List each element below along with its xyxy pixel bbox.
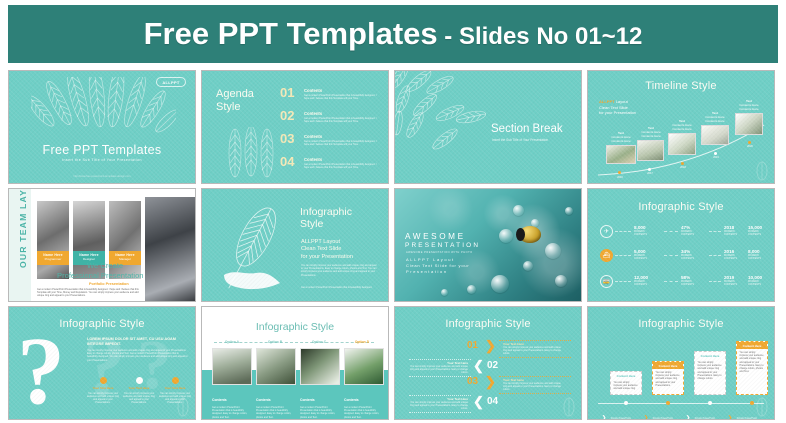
- slide6-kicker1: ALLPPT Layout: [301, 239, 353, 246]
- slide-thumbnail-2-agenda[interactable]: Agenda Style 01 Contents: [201, 70, 389, 184]
- agenda-body: Get a modern PowerPoint Presentation tha…: [304, 163, 382, 169]
- option-label: Option C: [301, 340, 337, 344]
- slide4-kicker-line1: Layout: [616, 99, 628, 104]
- card-header: Content Here: [653, 362, 683, 369]
- slide1-subtitle: Insert the Sub Title of Your Presentatio…: [9, 158, 195, 162]
- card-header: Content Here: [737, 342, 767, 349]
- slide7-title-line2: PRESENTATION: [405, 242, 480, 249]
- slide7-kicker2: Clean Text Slide for your: [406, 263, 470, 268]
- slide-thumbnail-7-awesome-presentation[interactable]: AWESOME PRESENTATION AWESOME PRESENTATIO…: [394, 188, 582, 302]
- option-caption: Contents Get a modern PowerPoint Present…: [300, 388, 340, 419]
- slide8-title: Infographic Style: [588, 201, 774, 213]
- chevron-right-icon: ❯: [644, 415, 648, 420]
- leaf-watermark-icon: [175, 397, 191, 417]
- chevron-right-icon: ❯: [485, 339, 496, 352]
- question-mark-icon: ?: [17, 333, 87, 413]
- slide7-subtitle: AWESOME PRESENTATION WITH PHOTO: [406, 251, 473, 254]
- team-headline1: We Create: [87, 261, 123, 270]
- agenda-number: 01: [280, 85, 294, 100]
- card-legend: ❯ Simple PowerPoint Simple PowerPoint: [602, 406, 638, 420]
- stat-cell: 8,000 MODERN CONTENTS: [748, 249, 775, 260]
- allppt-logo-text: ALLPPT: [162, 80, 179, 85]
- allppt-logo-badge: ALLPPT: [156, 77, 186, 87]
- timeline-year: 2016: [613, 176, 627, 179]
- slide12-title: Infographic Style: [588, 318, 774, 330]
- team-body: Get a modern PowerPoint Presentation tha…: [37, 288, 141, 298]
- agenda-body: Get a modern PowerPoint Presentation tha…: [304, 140, 382, 146]
- timeline-label: Text Contents Here Contents Here: [667, 119, 697, 131]
- team-name-tag: Name Here Programmer: [37, 251, 69, 265]
- option-caption-body: Get a modern PowerPoint Presentation tha…: [344, 406, 384, 419]
- header-banner: Free PPT Templates - Slides No 01~12: [8, 5, 778, 63]
- slide11-title: Infographic Style: [395, 318, 581, 330]
- stat-cell: 58% MODERN CONTENTS: [681, 275, 711, 286]
- slide4-kicker-line3: for your Presentation: [599, 110, 636, 116]
- stat-cell: 5,000 MODERN CONTENTS: [634, 249, 664, 260]
- slide-thumbnail-3-section-break[interactable]: Section Break Insert the Sub Title of Yo…: [394, 70, 582, 184]
- agenda-number: 02: [280, 108, 294, 123]
- option-caption: Contents Get a modern PowerPoint Present…: [344, 388, 384, 419]
- stat-cell: 8,000 MODERN CONTENTS: [634, 225, 664, 236]
- slide7-title-line1: AWESOME: [405, 232, 466, 241]
- step-body: You can simply impress your audience and…: [410, 401, 468, 411]
- agenda-body: Get a modern PowerPoint Presentation tha…: [304, 94, 382, 100]
- feature-column: Your Text Here You can simply impress yo…: [87, 377, 119, 404]
- slide6-body1: You can simply impress your audience and…: [301, 264, 379, 277]
- slide4-title: Timeline Style: [588, 80, 774, 92]
- stat-cell: 34% MODERN CONTENTS: [681, 249, 711, 260]
- card-body: You can simply impress your audience and…: [695, 359, 725, 382]
- team-vertical-label: OUR TEAM LAYOUT: [18, 188, 28, 268]
- slide-thumbnail-5-team-layout[interactable]: OUR TEAM LAYOUT Name Here Programmer Nam…: [8, 188, 196, 302]
- option-caption-title: Contents: [300, 398, 315, 402]
- step-body: You can simply impress your audience and…: [503, 346, 561, 356]
- agenda-number: 04: [280, 154, 294, 169]
- timeline-label: Text Contents Here Contents Here: [700, 111, 730, 123]
- slide-thumbnail-4-timeline[interactable]: Timeline Style ALLPPT Layout Clean Text …: [587, 70, 775, 184]
- option-label: Option B: [257, 340, 293, 344]
- slide1-title: Free PPT Templates: [9, 143, 195, 157]
- timeline-photo: [735, 113, 763, 135]
- timeline-photo: [701, 125, 729, 145]
- timeline-card: Content Here You can simply impress your…: [610, 371, 642, 395]
- team-member-role: Manager: [109, 257, 141, 261]
- slide-thumbnail-6-infographic-feather[interactable]: Infographic Style ALLPPT Layout Clean Te…: [201, 188, 389, 302]
- chevron-right-icon: ❯: [485, 375, 496, 388]
- slide3-title: Section Break: [491, 123, 563, 135]
- timeline-year: 2017: [643, 172, 657, 175]
- slide6-kicker2: Clean Text Slide: [301, 246, 353, 253]
- stat-cell: 10,000 MODERN CONTENTS: [748, 275, 775, 286]
- timeline-card: Content Here You can simply impress your…: [652, 361, 684, 395]
- agenda-number: 03: [280, 131, 294, 146]
- feature-body: You can simply impress your audience and…: [87, 392, 119, 405]
- leaf-watermark-icon: [561, 397, 577, 417]
- timeline-year: 2019: [709, 156, 723, 159]
- feature-column: Your Text Here You can simply impress yo…: [123, 377, 155, 404]
- slide6-body2: Get a modern PowerPoint Presentation tha…: [301, 286, 379, 289]
- slide6-heading-line1: Infographic: [300, 206, 352, 218]
- slide-thumbnail-12-infographic-cards[interactable]: Infographic Style Content Here You can s…: [587, 306, 775, 420]
- slide-thumbnail-grid: ALLPPT Free PPT Templates Insert the Sub…: [8, 70, 780, 420]
- slide7-kicker3: Presentation: [406, 269, 448, 274]
- slide-thumbnail-11-infographic-zigzag[interactable]: Infographic Style 01 ❯ Your Text Here Yo…: [394, 306, 582, 420]
- timeline-photo: [637, 140, 664, 161]
- card-body: You can simply impress your audience and…: [611, 379, 641, 393]
- step-number: 04: [487, 396, 498, 407]
- feature-title: Your Text Here: [159, 386, 191, 390]
- plant-photo: [344, 348, 384, 385]
- chevron-left-icon: ❮: [473, 395, 484, 408]
- circle-icon: [136, 377, 143, 384]
- slide10-title: Infographic Style: [202, 321, 388, 333]
- timeline-card: Content Here You can simply impress your…: [736, 341, 768, 395]
- train-icon: 🚋: [600, 275, 613, 288]
- timeline-label: Text Contents Here Contents Here: [734, 99, 764, 111]
- slide3-subtitle: Insert the Sub Title of Your Presentatio…: [492, 138, 548, 142]
- option-caption-title: Contents: [344, 398, 359, 402]
- timeline-year: 2018: [676, 166, 690, 169]
- timeline-photo: [668, 133, 696, 155]
- airplane-icon: ✈: [600, 225, 613, 238]
- page-title-sub: - Slides No 01~12: [438, 23, 643, 50]
- team-subhead: Portfolio Presentation: [89, 282, 129, 286]
- page-title-main: Free PPT Templates: [144, 16, 438, 51]
- chevron-right-icon: ❯: [728, 415, 732, 420]
- step-number: 01: [467, 340, 478, 351]
- timeline-year: 2020: [743, 145, 757, 148]
- slide1-url: http://www.free-powerpoint-templates-des…: [9, 175, 195, 178]
- card-header: Content Here: [611, 372, 641, 379]
- stat-cell: 47% MODERN CONTENTS: [681, 225, 711, 236]
- chevron-left-icon: ❮: [473, 359, 484, 372]
- slide9-kicker: LOREM IPSUM DOLOR SIT AMET, CU USU AGAM …: [87, 337, 187, 347]
- option-label: Option A: [214, 340, 250, 344]
- card-header: Content Here: [695, 352, 725, 359]
- card-legend: ❯ Simple PowerPoint Simple PowerPoint: [686, 406, 722, 420]
- agenda-label: Contents: [304, 111, 322, 116]
- slide7-kicker1: ALLPPT Layout: [406, 257, 455, 262]
- team-member-role: Programmer: [37, 257, 69, 261]
- slide-thumbnail-10-infographic-options[interactable]: Infographic Style Option A Option B Opti…: [201, 306, 389, 420]
- step-body: You can simply impress your audience and…: [503, 382, 561, 392]
- slide4-kicker-brand: ALLPPT: [599, 99, 615, 104]
- page-title: Free PPT Templates - Slides No 01~12: [144, 16, 643, 52]
- leaf-watermark-icon: [754, 397, 770, 417]
- slide-thumbnail-9-infographic-question[interactable]: Infographic Style ? ? ? LOREM IPSUM DOLO…: [8, 306, 196, 420]
- agenda-label: Contents: [304, 134, 322, 139]
- option-caption-body: Get a modern PowerPoint Presentation tha…: [300, 406, 340, 419]
- team-headline2: Professional Presentation: [57, 271, 144, 280]
- ship-icon: ⛴: [600, 249, 613, 262]
- step-box: Your Text Here You can simply impress yo…: [410, 397, 468, 411]
- slide-thumbnail-1-cover[interactable]: ALLPPT Free PPT Templates Insert the Sub…: [8, 70, 196, 184]
- plant-photo: [256, 348, 296, 385]
- option-label: Option D: [344, 340, 380, 344]
- bulb-icon: [172, 377, 179, 384]
- team-hero-photo: [145, 197, 195, 302]
- leaf-watermark-icon: [754, 161, 770, 181]
- agenda-label: Contents: [304, 88, 322, 93]
- leaf-trio-illustration: [222, 127, 280, 179]
- team-photo: [37, 201, 69, 279]
- step-number: 02: [487, 360, 498, 371]
- step-box: Your Text Here You can simply impress yo…: [503, 378, 561, 392]
- slide2-heading: Agenda Style: [216, 88, 254, 114]
- slide-thumbnail-8-infographic-stats[interactable]: Infographic Style ✈ 8,000 MODERN CONTENT…: [587, 188, 775, 302]
- feature-title: Your Text Here: [87, 386, 119, 390]
- card-body: You can simply impress your audience and…: [737, 349, 767, 375]
- card-body: You can simply impress your audience and…: [653, 369, 683, 389]
- scattered-leaves-illustration: [394, 71, 503, 166]
- option-caption-title: Contents: [212, 398, 227, 402]
- agenda-label: Contents: [304, 157, 322, 162]
- slide6-heading: Infographic Style: [300, 206, 352, 230]
- agenda-body: Get a modern PowerPoint Presentation tha…: [304, 117, 382, 123]
- slide4-kicker: ALLPPT Layout Clean Text Slide for your …: [599, 99, 636, 116]
- option-caption-body: Get a modern PowerPoint Presentation tha…: [212, 406, 252, 419]
- step-box: Your Text Here You can simply impress yo…: [410, 361, 468, 375]
- timeline-label: Text Contents Here Contents Here: [606, 131, 636, 143]
- timeline-label: Text Contents Here Contents Here: [636, 126, 666, 138]
- step-number: 03: [467, 376, 478, 387]
- chevron-right-icon: ❯: [602, 415, 606, 420]
- chevron-right-icon: ❯: [686, 415, 690, 420]
- option-caption: Contents Get a modern PowerPoint Present…: [256, 388, 296, 419]
- page-root: Free PPT Templates - Slides No 01~12: [0, 0, 786, 423]
- slide2-heading-line1: Agenda: [216, 88, 254, 101]
- feature-body: You can simply impress your audience and…: [123, 392, 155, 405]
- card-legend: ❯ Simple PowerPoint Simple PowerPoint: [644, 406, 680, 420]
- flame-icon: [100, 377, 107, 384]
- option-caption-title: Contents: [256, 398, 271, 402]
- option-caption: Contents Get a modern PowerPoint Present…: [212, 388, 252, 419]
- slide2-heading-line2: Style: [216, 101, 254, 114]
- stat-cell: 15,000 MODERN CONTENTS: [748, 225, 775, 236]
- option-caption-body: Get a modern PowerPoint Presentation tha…: [256, 406, 296, 419]
- team-member-role: Designer: [73, 257, 105, 261]
- feather-illustration: [216, 203, 296, 298]
- plant-photo: [300, 348, 340, 385]
- ladybug-icon: [519, 226, 541, 243]
- plant-photo: [212, 348, 252, 385]
- slide9-body: You can simply impress your audience and…: [87, 349, 189, 362]
- stat-cell: 12,000 MODERN CONTENTS: [634, 275, 664, 286]
- step-box: Your Text Here You can simply impress yo…: [503, 342, 561, 356]
- slide6-heading-line2: Style: [300, 218, 352, 230]
- timeline-photo: [606, 145, 636, 164]
- feature-title: Your Text Here: [123, 386, 155, 390]
- timeline-card: Content Here You can simply impress your…: [694, 351, 726, 395]
- step-body: You can simply impress your audience and…: [410, 365, 468, 375]
- slide6-kicker: ALLPPT Layout Clean Text Slide for your …: [301, 239, 353, 261]
- slide6-kicker3: for your Presentation: [301, 254, 353, 261]
